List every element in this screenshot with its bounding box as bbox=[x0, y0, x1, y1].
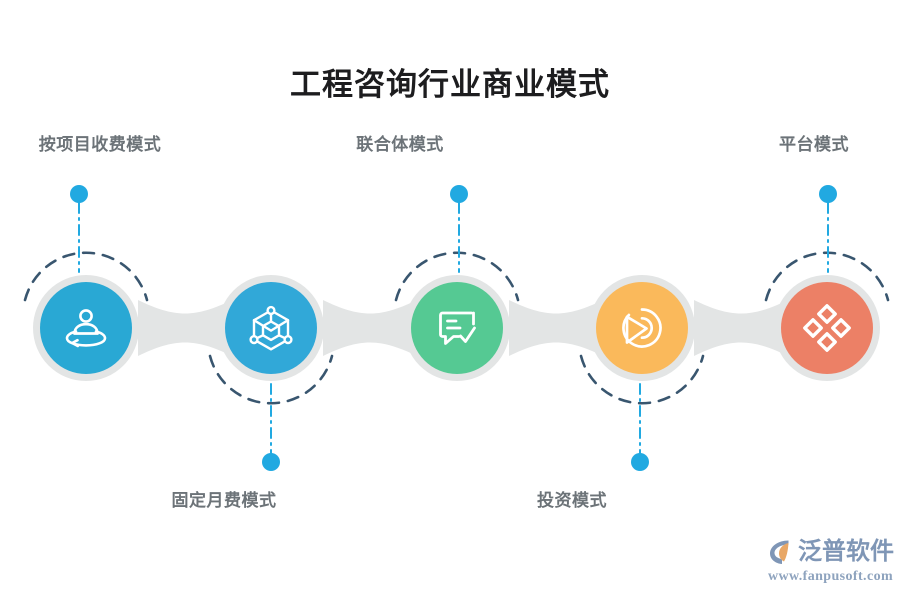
page-title: 工程咨询行业商业模式 bbox=[0, 63, 900, 107]
infographic-canvas: 工程咨询行业商业模式 按项目收费模式 固定月费模式 bbox=[0, 0, 900, 600]
chat-check-icon bbox=[431, 302, 483, 354]
hexagon-network-icon bbox=[245, 302, 297, 354]
growth-arrow-circle-icon bbox=[616, 302, 668, 354]
node-label-4: 投资模式 bbox=[537, 489, 607, 513]
brand-logo[interactable]: 泛普软件 www.fanpusoft.com bbox=[766, 536, 894, 586]
fanpu-logo-mark-icon bbox=[766, 537, 796, 567]
brand-name: 泛普软件 bbox=[798, 537, 894, 567]
node-label-2: 固定月费模式 bbox=[172, 489, 277, 513]
node-label-5: 平台模式 bbox=[779, 133, 849, 157]
node-icon-1-person-orbit[interactable] bbox=[40, 282, 132, 374]
node-icon-2-hexagon-network[interactable] bbox=[225, 282, 317, 374]
four-diamonds-icon bbox=[801, 302, 853, 354]
node-label-1: 按项目收费模式 bbox=[39, 133, 162, 157]
node-label-3: 联合体模式 bbox=[356, 133, 444, 157]
node-icon-5-four-diamonds[interactable] bbox=[781, 282, 873, 374]
person-orbit-icon bbox=[60, 302, 112, 354]
node-icon-4-growth-arrow-circle[interactable] bbox=[596, 282, 688, 374]
brand-logo-row: 泛普软件 bbox=[766, 536, 894, 568]
node-icon-3-chat-check[interactable] bbox=[411, 282, 503, 374]
brand-url: www.fanpusoft.com bbox=[768, 569, 894, 585]
